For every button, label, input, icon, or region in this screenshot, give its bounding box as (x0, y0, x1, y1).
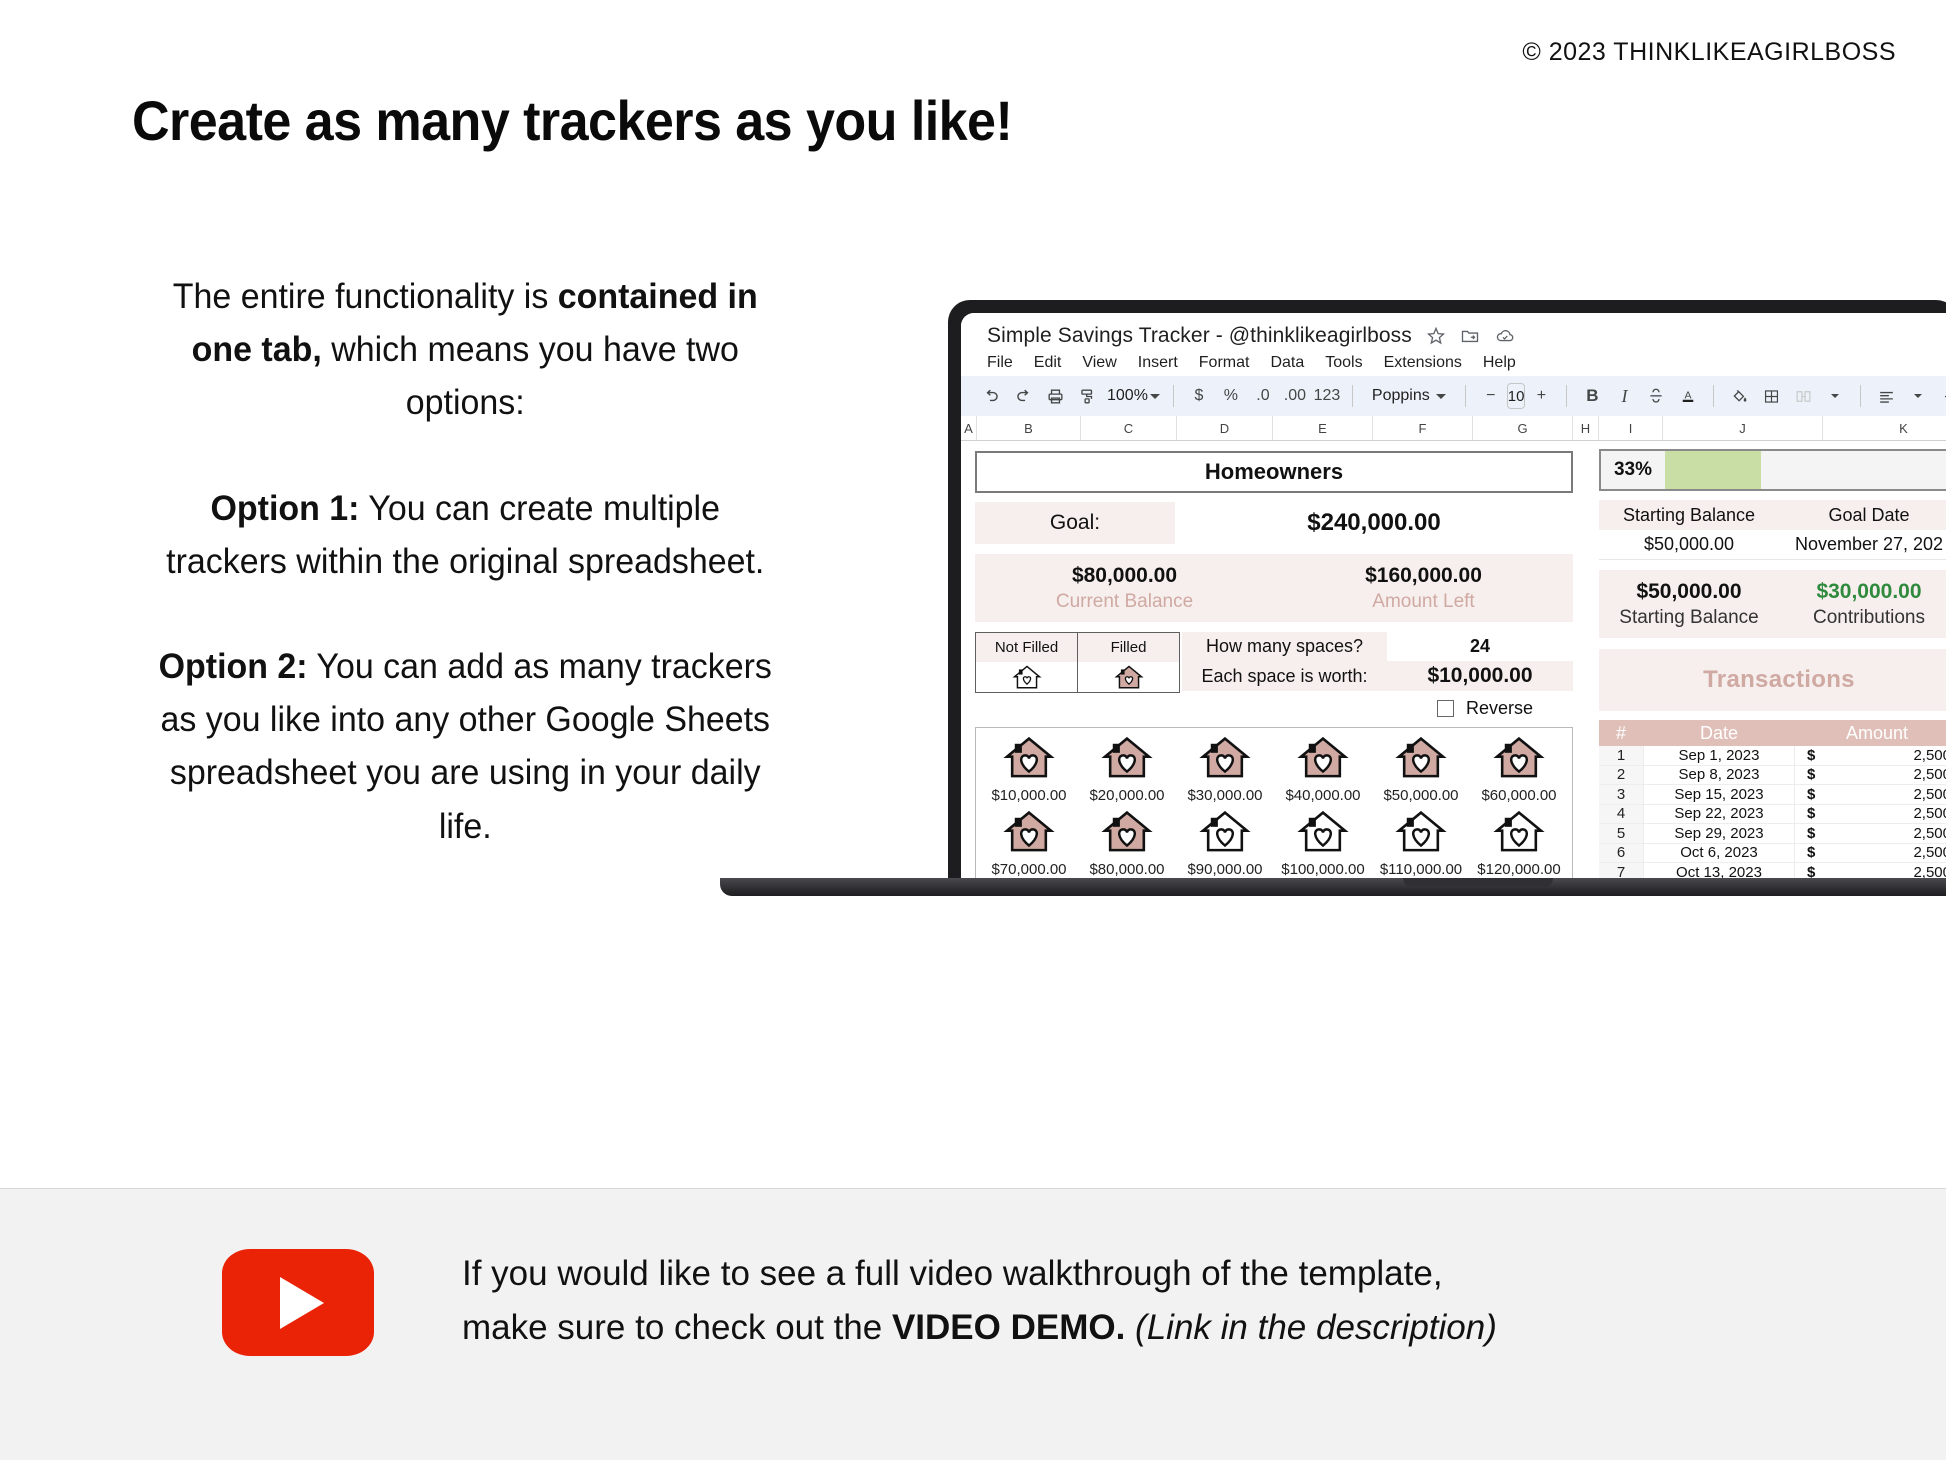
spaces-row: How many spaces? 24 (1182, 632, 1573, 661)
transactions-col-date: Date (1643, 720, 1795, 746)
table-row[interactable]: 6Oct 6, 2023$2,500 (1599, 844, 1946, 864)
progress-percent-label: 33% (1601, 459, 1665, 481)
zoom-level-value: 100% (1107, 387, 1148, 405)
toolbar-divider (1173, 385, 1174, 407)
currency-symbol: $ (1807, 844, 1815, 861)
summary-pane: 33% Starting Balance Goal Date $50,000.0… (1589, 441, 1946, 878)
house-cell[interactable]: $50,000.00 (1372, 736, 1470, 804)
banner-line-2: make sure to check out the VIDEO DEMO. (… (462, 1301, 1762, 1355)
transaction-number: 3 (1599, 785, 1643, 804)
contributions-summary: $30,000.00 Contributions (1779, 570, 1946, 638)
star-icon[interactable] (1426, 326, 1446, 346)
play-triangle-icon (280, 1277, 324, 1329)
amount-value: 2,500 (1913, 766, 1946, 783)
transaction-number: 2 (1599, 766, 1643, 785)
currency-symbol: $ (1807, 766, 1815, 783)
space-worth-label: Each space is worth: (1182, 661, 1387, 691)
house-icon (1395, 736, 1447, 785)
contributions-label: Contributions (1813, 607, 1925, 629)
transactions-header-row: # Date Amount (1599, 720, 1946, 746)
currency-symbol: $ (1807, 825, 1815, 842)
goal-label: Goal: (975, 502, 1175, 544)
zoom-level-select[interactable]: 100% (1103, 387, 1164, 405)
goal-row: Goal: $240,000.00 (975, 502, 1573, 544)
house-amount-label: $120,000.00 (1477, 861, 1560, 878)
column-header-a[interactable]: A (961, 416, 977, 440)
starting-balance-cell[interactable]: $50,000.00 (1599, 530, 1779, 559)
intro-text-before: The entire functionality is (173, 277, 558, 316)
contributions-summary-row: $50,000.00 Starting Balance $30,000.00 C… (1599, 570, 1946, 638)
paragraph-spacer (150, 588, 781, 640)
legend-icon-row (976, 662, 1179, 692)
transaction-date: Sep 15, 2023 (1643, 785, 1795, 804)
column-header-i[interactable]: I (1599, 416, 1663, 440)
transaction-date: Sep 22, 2023 (1643, 805, 1795, 824)
starting-balance-amount: $50,000.00 (1636, 580, 1741, 604)
left-copy-block: The entire functionality is contained in… (150, 270, 781, 853)
house-icon (1493, 736, 1545, 785)
house-amount-label: $10,000.00 (991, 787, 1066, 804)
legend-house-empty (976, 662, 1078, 692)
svg-text:A: A (1685, 389, 1692, 401)
spaces-value[interactable]: 24 (1387, 632, 1573, 661)
bold-button[interactable]: B (1576, 381, 1608, 411)
house-amount-label: $40,000.00 (1285, 787, 1360, 804)
youtube-icon[interactable] (222, 1249, 374, 1356)
amount-value: 2,500 (1913, 844, 1946, 861)
decrease-decimal-button[interactable]: .0 (1247, 381, 1279, 411)
tracker-pane: Homeowners Goal: $240,000.00 $80,000.00 … (961, 441, 1589, 878)
starting-balance-header: Starting Balance (1599, 500, 1779, 530)
legend-filled-label: Filled (1078, 633, 1179, 662)
column-header-h[interactable]: H (1573, 416, 1599, 440)
toolbar-divider (1713, 385, 1714, 407)
currency-format-button[interactable]: $ (1183, 381, 1215, 411)
reverse-checkbox[interactable] (1437, 700, 1454, 717)
currency-symbol: $ (1807, 805, 1815, 822)
banner-text: If you would like to see a full video wa… (462, 1247, 1762, 1356)
undo-icon[interactable] (975, 381, 1007, 411)
transactions-col-amount: Amount (1795, 720, 1946, 746)
toolbar-divider (1352, 385, 1353, 407)
transaction-date: Sep 29, 2023 (1643, 824, 1795, 843)
house-amount-label: $70,000.00 (991, 861, 1066, 878)
toolbar-divider (1860, 385, 1861, 407)
chevron-down-icon (1150, 394, 1160, 399)
house-amount-label: $50,000.00 (1383, 787, 1458, 804)
align-dropdown-icon[interactable] (1902, 381, 1934, 411)
banner-link-note: (Link in the description) (1125, 1308, 1497, 1347)
fill-color-button[interactable] (1723, 381, 1755, 411)
amount-left-label: Amount Left (1372, 591, 1474, 613)
menu-item-insert[interactable]: Insert (1138, 354, 1178, 372)
house-amount-label: $90,000.00 (1187, 861, 1262, 878)
tracker-title[interactable]: Homeowners (975, 451, 1573, 493)
starting-balance-summary: $50,000.00 Starting Balance (1599, 570, 1779, 638)
spaces-label: How many spaces? (1182, 632, 1387, 661)
video-demo-banner: If you would like to see a full video wa… (0, 1188, 1946, 1460)
column-header-c[interactable]: C (1081, 416, 1177, 440)
transactions-table: # Date Amount 1Sep 1, 2023$2,5002Sep 8, … (1599, 720, 1946, 878)
borders-button[interactable] (1755, 381, 1787, 411)
decrease-font-size-button[interactable]: − (1475, 381, 1507, 411)
house-grid-row: $70,000.00$80,000.00$90,000.00$100,000.0… (980, 810, 1568, 878)
sheets-topbar: Simple Savings Tracker - @thinklikeagirl… (961, 313, 1946, 376)
contributions-amount: $30,000.00 (1816, 580, 1921, 604)
progress-track (1665, 451, 1946, 489)
transaction-number: 4 (1599, 805, 1643, 824)
goal-date-cell[interactable]: November 27, 202 (1779, 530, 1946, 559)
banner-line-1: If you would like to see a full video wa… (462, 1247, 1762, 1301)
percent-format-button[interactable]: % (1215, 381, 1247, 411)
font-family-value: Poppins (1372, 387, 1430, 405)
banner-video-demo: VIDEO DEMO. (892, 1308, 1125, 1347)
intro-text-after: which means you have two options: (322, 330, 739, 422)
redo-icon[interactable] (1007, 381, 1039, 411)
sheets-title-row: Simple Savings Tracker - @thinklikeagirl… (987, 324, 1946, 348)
space-worth-row: Each space is worth: $10,000.00 (1182, 661, 1573, 691)
transactions-title: Transactions (1599, 649, 1946, 711)
settings-table: How many spaces? 24 Each space is worth:… (1182, 632, 1573, 693)
menu-item-file[interactable]: File (987, 354, 1013, 372)
document-title[interactable]: Simple Savings Tracker - @thinklikeagirl… (987, 324, 1412, 348)
house-icon (1493, 810, 1545, 859)
font-family-select[interactable]: Poppins (1362, 387, 1456, 405)
laptop-base (720, 878, 1946, 896)
amount-value: 2,500 (1913, 825, 1946, 842)
legend-not-filled-label: Not Filled (976, 633, 1078, 662)
house-cell[interactable]: $60,000.00 (1470, 736, 1568, 804)
summary-header-row: Starting Balance Goal Date (1599, 500, 1946, 530)
table-row[interactable]: 3Sep 15, 2023$2,500 (1599, 785, 1946, 805)
transaction-date: Oct 6, 2023 (1643, 844, 1795, 863)
laptop-base-notch (1403, 878, 1553, 887)
amount-left-amount: $160,000.00 (1365, 564, 1482, 588)
print-icon[interactable] (1039, 381, 1071, 411)
progress-bar: 33% (1599, 449, 1946, 491)
table-row[interactable]: 1Sep 1, 2023$2,500 (1599, 746, 1946, 766)
house-cell[interactable]: $20,000.00 (1078, 736, 1176, 804)
house-icon (1297, 810, 1349, 859)
house-amount-label: $20,000.00 (1089, 787, 1164, 804)
move-to-folder-icon[interactable] (1460, 326, 1480, 346)
summary-value-row: $50,000.00 November 27, 202 (1599, 530, 1946, 560)
toolbar-divider (1566, 385, 1567, 407)
reverse-row: Reverse (975, 693, 1573, 723)
increase-font-size-button[interactable]: + (1525, 381, 1557, 411)
copyright-notice: © 2023 THINKLIKEAGIRLBOSS (1522, 38, 1896, 67)
house-amount-label: $30,000.00 (1187, 787, 1262, 804)
house-icon (1395, 810, 1447, 859)
house-grid: $10,000.00$20,000.00$30,000.00$40,000.00… (975, 727, 1573, 878)
transaction-amount: $2,500 (1795, 805, 1946, 824)
text-color-button[interactable]: A (1672, 381, 1704, 411)
amount-value: 2,500 (1913, 805, 1946, 822)
laptop-mockup: Simple Savings Tracker - @thinklikeagirl… (948, 300, 1946, 908)
horizontal-align-button[interactable] (1870, 381, 1902, 411)
column-header-e[interactable]: E (1273, 416, 1373, 440)
more-formats-button[interactable]: 123 (1311, 381, 1343, 411)
laptop-bezel: Simple Savings Tracker - @thinklikeagirl… (948, 300, 1946, 878)
vertical-align-button[interactable] (1934, 381, 1946, 411)
transaction-amount: $2,500 (1795, 844, 1946, 863)
transaction-date: Oct 13, 2023 (1643, 863, 1795, 878)
house-amount-label: $80,000.00 (1089, 861, 1164, 878)
menu-item-data[interactable]: Data (1270, 354, 1304, 372)
house-icon (1101, 736, 1153, 785)
page-title: Create as many trackers as you like! (132, 88, 1012, 153)
amount-value: 2,500 (1913, 786, 1946, 803)
increase-decimal-button[interactable]: .00 (1279, 381, 1311, 411)
house-cell[interactable]: $10,000.00 (980, 736, 1078, 804)
legend-and-settings: Not Filled Filled (975, 632, 1573, 693)
toolbar-divider (1465, 385, 1466, 407)
house-grid-row: $10,000.00$20,000.00$30,000.00$40,000.00… (980, 736, 1568, 804)
table-row[interactable]: 5Sep 29, 2023$2,500 (1599, 824, 1946, 844)
house-cell[interactable]: $30,000.00 (1176, 736, 1274, 804)
paint-format-icon[interactable] (1071, 381, 1103, 411)
menu-item-help[interactable]: Help (1483, 354, 1516, 372)
menu-item-extensions[interactable]: Extensions (1384, 354, 1462, 372)
house-cell[interactable]: $120,000.00 (1470, 810, 1568, 878)
amount-value: 2,500 (1913, 864, 1946, 878)
menu-item-format[interactable]: Format (1199, 354, 1250, 372)
column-header-row: A B C D E F G H I J K (961, 416, 1946, 441)
house-cell[interactable]: $110,000.00 (1372, 810, 1470, 878)
banner-line2-before: make sure to check out the (462, 1308, 892, 1347)
transactions-body: 1Sep 1, 2023$2,5002Sep 8, 2023$2,5003Sep… (1599, 746, 1946, 878)
transaction-date: Sep 8, 2023 (1643, 766, 1795, 785)
column-header-g[interactable]: G (1473, 416, 1573, 440)
space-worth-value: $10,000.00 (1387, 661, 1573, 691)
sheets-toolbar: 100% $ % .0 .00 123 Poppins − (961, 376, 1946, 416)
house-cell[interactable]: $90,000.00 (1176, 810, 1274, 878)
column-header-j[interactable]: J (1663, 416, 1823, 440)
table-row[interactable]: 2Sep 8, 2023$2,500 (1599, 766, 1946, 786)
house-icon (1003, 736, 1055, 785)
transaction-number: 1 (1599, 746, 1643, 765)
transaction-amount: $2,500 (1795, 863, 1946, 878)
house-cell[interactable]: $80,000.00 (1078, 810, 1176, 878)
column-header-k[interactable]: K (1823, 416, 1946, 440)
goal-value[interactable]: $240,000.00 (1175, 502, 1573, 544)
house-cell[interactable]: $100,000.00 (1274, 810, 1372, 878)
column-header-f[interactable]: F (1373, 416, 1473, 440)
currency-symbol: $ (1807, 786, 1815, 803)
menu-item-edit[interactable]: Edit (1034, 354, 1062, 372)
house-cell[interactable]: $70,000.00 (980, 810, 1078, 878)
legend-table: Not Filled Filled (975, 632, 1180, 693)
option-2-label: Option 2: (159, 647, 308, 686)
column-header-d[interactable]: D (1177, 416, 1273, 440)
paragraph-spacer (150, 430, 781, 482)
transaction-number: 6 (1599, 844, 1643, 863)
transaction-amount: $2,500 (1795, 766, 1946, 785)
transaction-amount: $2,500 (1795, 824, 1946, 843)
house-icon (1199, 810, 1251, 859)
house-amount-label: $60,000.00 (1481, 787, 1556, 804)
strikethrough-button[interactable] (1640, 381, 1672, 411)
italic-button[interactable]: I (1608, 381, 1640, 411)
amount-left-cell: $160,000.00 Amount Left (1274, 554, 1573, 622)
transactions-col-number: # (1599, 720, 1643, 746)
column-header-b[interactable]: B (977, 416, 1081, 440)
house-icon (1199, 736, 1251, 785)
legend-house-filled (1078, 662, 1179, 692)
amount-value: 2,500 (1913, 747, 1946, 764)
house-icon (1101, 810, 1153, 859)
menu-item-tools[interactable]: Tools (1325, 354, 1362, 372)
poster-canvas: © 2023 THINKLIKEAGIRLBOSS Create as many… (0, 0, 1946, 1460)
transaction-number: 7 (1599, 863, 1643, 878)
merge-dropdown-icon[interactable] (1819, 381, 1851, 411)
currency-symbol: $ (1807, 747, 1815, 764)
current-balance-label: Current Balance (1056, 591, 1193, 613)
sheet-grid: Homeowners Goal: $240,000.00 $80,000.00 … (961, 441, 1946, 878)
transaction-amount: $2,500 (1795, 785, 1946, 804)
chevron-down-icon (1436, 394, 1446, 399)
intro-paragraph: The entire functionality is contained in… (150, 270, 781, 430)
currency-symbol: $ (1807, 864, 1815, 878)
transaction-number: 5 (1599, 824, 1643, 843)
option-2-paragraph: Option 2: You can add as many trackers a… (150, 640, 781, 853)
house-amount-label: $110,000.00 (1380, 861, 1462, 878)
merge-cells-button[interactable] (1787, 381, 1819, 411)
menu-item-view[interactable]: View (1082, 354, 1116, 372)
house-amount-label: $100,000.00 (1281, 861, 1364, 878)
house-cell[interactable]: $40,000.00 (1274, 736, 1372, 804)
house-icon (1297, 736, 1349, 785)
goal-date-header: Goal Date (1779, 500, 1946, 530)
current-balance-cell: $80,000.00 Current Balance (975, 554, 1274, 622)
legend-header-row: Not Filled Filled (976, 633, 1179, 662)
transaction-date: Sep 1, 2023 (1643, 746, 1795, 765)
sheets-menubar: File Edit View Insert Format Data Tools … (987, 354, 1946, 372)
option-1-paragraph: Option 1: You can create multiple tracke… (150, 482, 781, 588)
reverse-label: Reverse (1466, 698, 1533, 719)
font-size-input[interactable]: 10 (1507, 383, 1526, 409)
progress-fill (1665, 451, 1761, 489)
table-row[interactable]: 4Sep 22, 2023$2,500 (1599, 805, 1946, 825)
current-balance-amount: $80,000.00 (1072, 564, 1177, 588)
house-icon (1003, 810, 1055, 859)
option-1-label: Option 1: (211, 489, 360, 528)
table-row[interactable]: 7Oct 13, 2023$2,500 (1599, 863, 1946, 878)
cloud-saved-icon[interactable] (1494, 326, 1516, 346)
starting-balance-label: Starting Balance (1619, 607, 1758, 629)
balance-summary-row: $80,000.00 Current Balance $160,000.00 A… (975, 554, 1573, 622)
laptop-screen: Simple Savings Tracker - @thinklikeagirl… (961, 313, 1946, 878)
transaction-amount: $2,500 (1795, 746, 1946, 765)
